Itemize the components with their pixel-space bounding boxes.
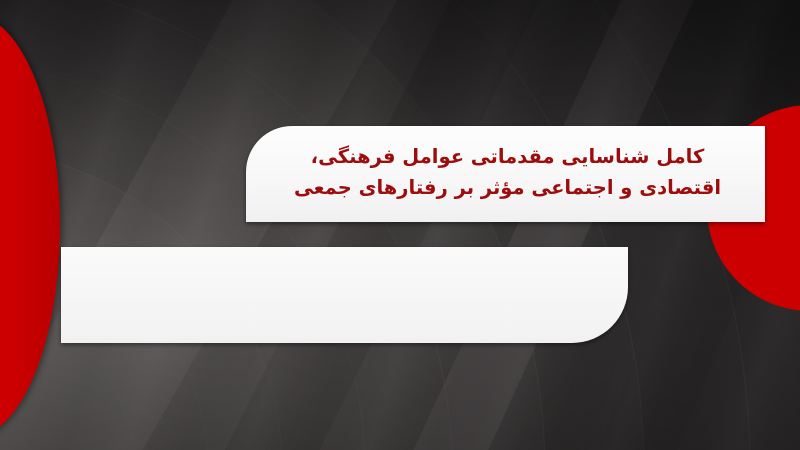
content-placeholder[interactable] <box>61 247 628 343</box>
slide-canvas: کامل شناسایی مقدماتی عوامل فرهنگی، اقتصا… <box>0 0 800 450</box>
background-arc-pattern <box>0 0 800 450</box>
slide-title: کامل شناسایی مقدماتی عوامل فرهنگی، اقتصا… <box>272 141 743 203</box>
title-placeholder[interactable]: کامل شناسایی مقدماتی عوامل فرهنگی، اقتصا… <box>246 126 765 222</box>
